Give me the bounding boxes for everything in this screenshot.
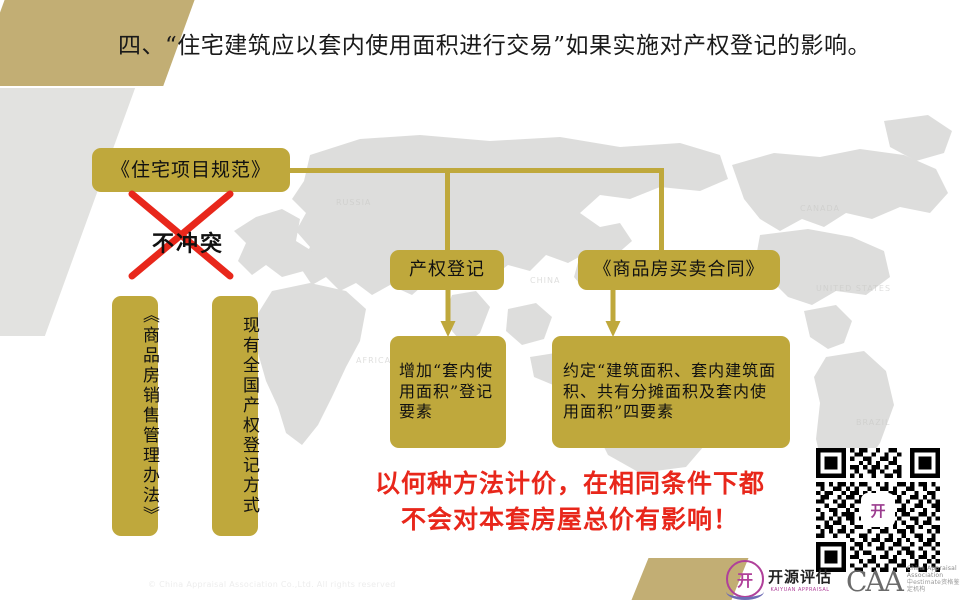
box-label: 《商品房买卖合同》	[578, 258, 780, 281]
kaiyuan-name: 开源评估	[768, 568, 832, 586]
qr-center-glyph: 开	[870, 500, 885, 521]
qr-code-icon[interactable]: 开	[814, 448, 942, 572]
caa-line-3: 中estimate资格鉴定机构	[907, 580, 960, 594]
box-residential-project-standard[interactable]: 《住宅项目规范》	[92, 148, 290, 192]
box-label: 增加“套内使用面积”登记要素	[399, 361, 497, 422]
connector-vertical-left	[445, 168, 450, 252]
kaiyuan-subtitle: KAIYUAN APPRAISAL	[768, 587, 832, 593]
svg-text:BRAZIL: BRAZIL	[856, 418, 891, 427]
box-label: 约定“建筑面积、套内建筑面积、共有分摊面积及套内使用面积”四要素	[563, 361, 779, 422]
svg-text:CANADA: CANADA	[800, 204, 840, 213]
kaiyuan-logo: 开 开源评估 KAIYUAN APPRAISAL	[726, 560, 832, 598]
box-property-registration[interactable]: 产权登记	[390, 250, 504, 290]
box-contract-four-elements-detail[interactable]: 约定“建筑面积、套内建筑面积、共有分摊面积及套内使用面积”四要素	[552, 336, 790, 448]
box-registration-element-detail[interactable]: 增加“套内使用面积”登记要素	[390, 336, 506, 448]
box-commodity-housing-sales-measures[interactable]: 《商品房销售管理办法》	[112, 296, 158, 536]
caa-text-block: China Appraisal Association 中estimate资格鉴…	[907, 566, 960, 596]
box-label: 现有全国产权登记方式	[212, 316, 258, 516]
box-label: 《商品房销售管理办法》	[112, 306, 158, 526]
caa-logo: CAA China Appraisal Association 中estimat…	[846, 566, 960, 596]
kaiyuan-swoosh-icon	[726, 583, 764, 600]
conclusion-line-2: 不会对本套房屋总价有影响！	[330, 502, 810, 538]
conclusion-text: 以何种方法计价，在相同条件下都 不会对本套房屋总价有影响！	[330, 466, 810, 539]
svg-text:UNITED STATES: UNITED STATES	[816, 284, 891, 293]
conclusion-line-1: 以何种方法计价，在相同条件下都	[330, 466, 810, 502]
copyright-footer: © China Appraisal Association Co.,Ltd. A…	[148, 580, 396, 589]
svg-text:AFRICA: AFRICA	[356, 356, 391, 365]
connector-vertical-right	[659, 168, 664, 252]
arrow-down-icon-right	[605, 290, 621, 338]
connector-horizontal	[288, 168, 664, 173]
box-label: 《住宅项目规范》	[92, 158, 290, 182]
svg-text:CHINA: CHINA	[530, 276, 560, 285]
kaiyuan-mark-icon: 开	[726, 560, 764, 598]
arrow-down-icon-left	[440, 290, 456, 338]
box-existing-registration-method[interactable]: 现有全国产权登记方式	[212, 296, 258, 536]
no-conflict-label: 不冲突	[140, 226, 236, 258]
qr-center-logo: 开	[861, 493, 895, 527]
svg-text:RUSSIA: RUSSIA	[336, 198, 371, 207]
box-label: 产权登记	[390, 258, 504, 281]
slide-canvas: RUSSIA CANADA UNITED STATES AFRICA CHINA…	[0, 0, 960, 600]
page-title: 四、“住宅建筑应以套内使用面积进行交易”如果实施对产权登记的影响。	[118, 26, 871, 60]
caa-mark: CAA	[846, 568, 902, 596]
box-commodity-housing-sales-contract[interactable]: 《商品房买卖合同》	[578, 250, 780, 290]
